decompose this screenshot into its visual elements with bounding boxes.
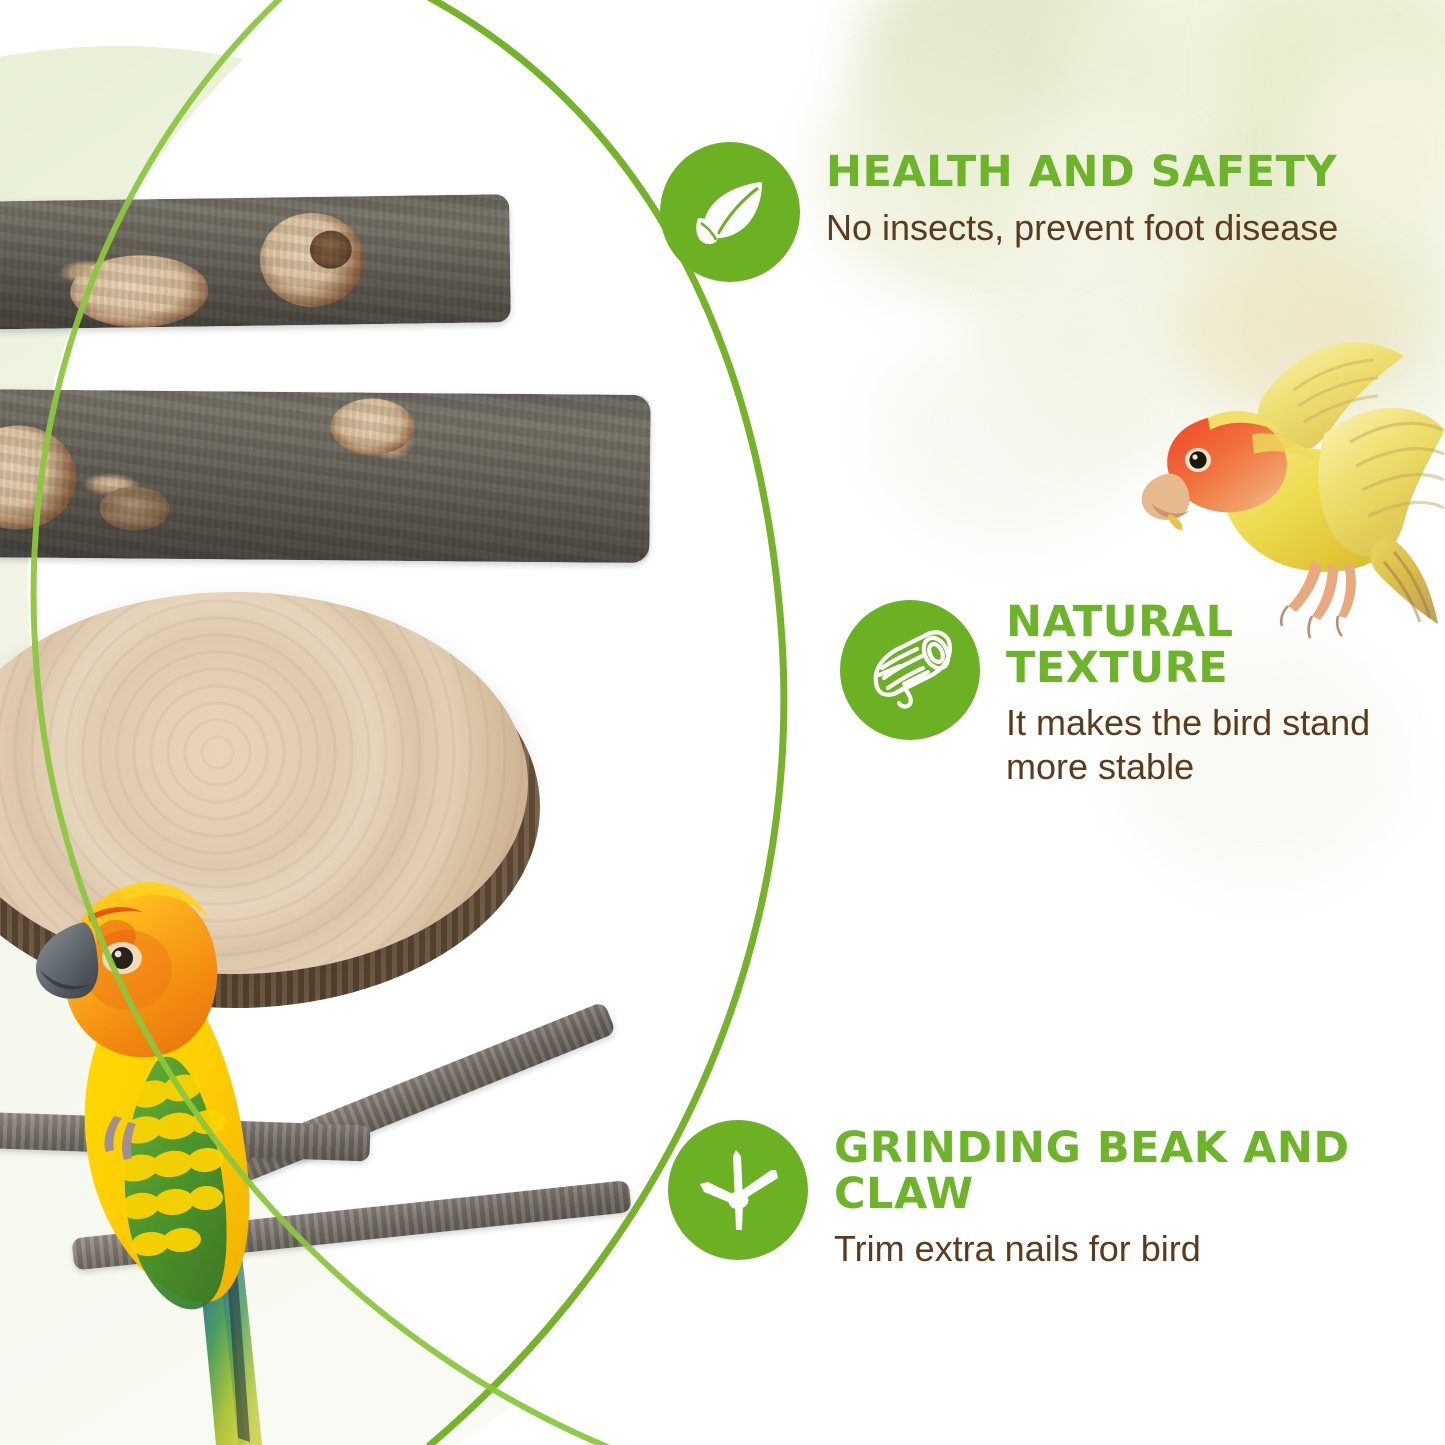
feature-title-claw: GRINDING BEAK AND CLAW [834, 1126, 1364, 1217]
log-icon [860, 620, 960, 720]
wooden-branch-perch-top [0, 194, 511, 330]
infographic-canvas: HEALTH AND SAFETY No insects, prevent fo… [0, 0, 1445, 1445]
feature-text-claw: GRINDING BEAK AND CLAW Trim extra nails … [834, 1120, 1364, 1271]
leaf-badge [660, 142, 800, 282]
leaf-icon [680, 162, 780, 262]
sun-conure-perched [10, 690, 390, 1445]
feature-desc-texture: It makes the bird stand more stable [1006, 701, 1426, 789]
feature-text-health: HEALTH AND SAFETY No insects, prevent fo… [826, 142, 1366, 249]
feature-grinding-beak-and-claw: GRINDING BEAK AND CLAW Trim extra nails … [668, 1120, 1364, 1271]
bird-footprint-icon [688, 1140, 788, 1240]
feature-desc-health: No insects, prevent foot disease [826, 206, 1366, 250]
feature-desc-claw: Trim extra nails for bird [834, 1227, 1364, 1271]
wooden-branch-perch-middle [0, 389, 651, 563]
feature-health-and-safety: HEALTH AND SAFETY No insects, prevent fo… [660, 142, 1366, 282]
log-badge [840, 600, 980, 740]
feature-title-health: HEALTH AND SAFETY [826, 150, 1366, 196]
feature-text-texture: NATURAL TEXTURE It makes the bird stand … [1006, 600, 1426, 789]
feature-natural-texture: NATURAL TEXTURE It makes the bird stand … [840, 600, 1426, 789]
footprint-badge [668, 1120, 808, 1260]
feature-title-texture: NATURAL TEXTURE [1006, 600, 1426, 691]
